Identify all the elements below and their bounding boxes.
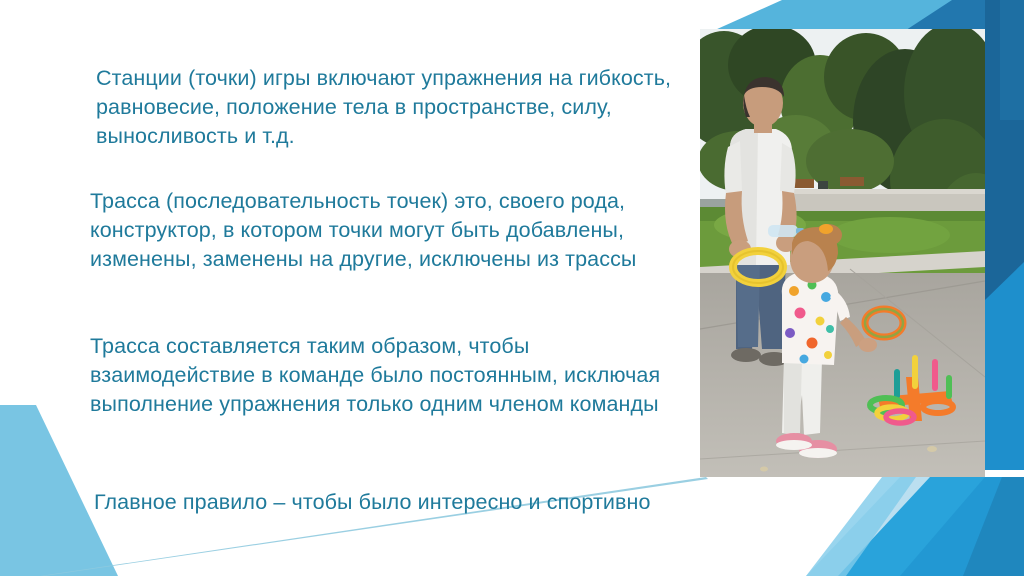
photo-artwork	[700, 29, 985, 477]
right-mid-blue-wedge	[985, 262, 1024, 470]
presentation-slide: Станции (точки) игры включают упражнения…	[0, 0, 1024, 576]
paragraph-main-rule: Главное правило – чтобы было интересно и…	[94, 488, 714, 517]
bottom-right-pale-wedge	[806, 477, 1024, 576]
paragraph-team-interaction-description: Трасса составляется таким образом, чтобы…	[90, 332, 690, 419]
photo-debris-a	[927, 446, 937, 452]
bottom-right-blue-wedge-b	[900, 477, 1024, 576]
right-dark-panel	[985, 0, 1024, 470]
paragraph-route-builder-description: Трасса (последовательность точек) это, с…	[90, 187, 690, 274]
paragraph-stations-description: Станции (точки) игры включают упражнения…	[96, 64, 676, 151]
bottom-right-blue-wedge-d	[806, 477, 916, 576]
bottom-right-blue-wedge-a	[838, 477, 1024, 576]
bottom-right-blue-wedge-c	[963, 477, 1024, 576]
photo-debris-b	[760, 467, 768, 472]
right-dark-panel-upper-sliver	[1000, 0, 1024, 120]
slide-text-body: Станции (точки) игры включают упражнения…	[90, 34, 690, 504]
ring-toss-photo	[700, 29, 985, 477]
